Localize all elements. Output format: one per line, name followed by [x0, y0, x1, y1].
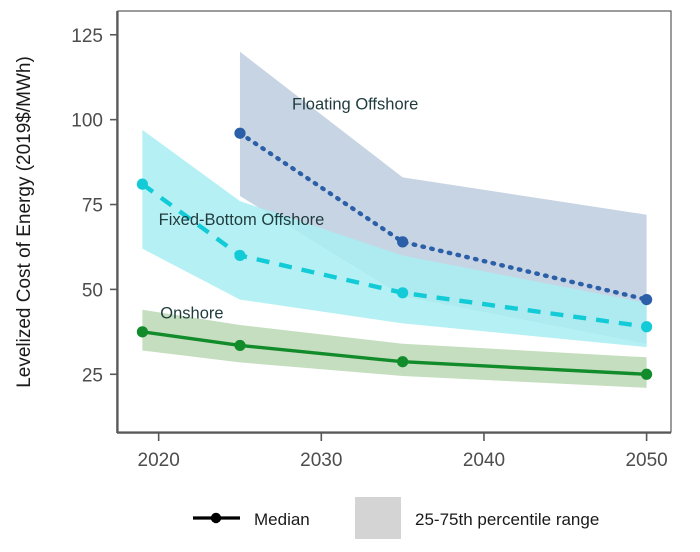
y-tick-label: 75: [82, 196, 103, 217]
y-axis: 255075100125: [71, 26, 117, 387]
median-point-marker: [234, 340, 245, 351]
legend-percentile-swatch: [355, 497, 401, 539]
series-label-fixed-bottom-offshore: Fixed-Bottom Offshore: [159, 211, 325, 229]
median-point-marker: [641, 369, 652, 380]
median-point-marker: [397, 287, 408, 298]
y-tick-label: 100: [71, 111, 103, 132]
y-tick-label: 125: [71, 26, 103, 47]
median-point-marker: [397, 356, 408, 367]
legend-median-label: Median: [254, 510, 310, 529]
legend-median-marker-icon: [211, 513, 221, 523]
median-point-marker: [641, 321, 652, 332]
chart-figure: 255075100125 2020203020402050 Levelized …: [0, 0, 700, 552]
series-label-onshore: Onshore: [160, 304, 223, 322]
legend-percentile-label: 25-75th percentile range: [415, 510, 599, 529]
y-tick-label: 25: [82, 365, 103, 386]
x-tick-label: 2030: [300, 450, 342, 471]
series-label-floating-offshore: Floating Offshore: [292, 95, 418, 113]
chart-legend: Median 25-75th percentile range: [193, 497, 599, 539]
median-point-marker: [234, 250, 245, 261]
median-point-marker: [234, 128, 245, 139]
x-tick-label: 2020: [138, 450, 180, 471]
x-axis: 2020203020402050: [138, 433, 668, 471]
median-point-marker: [137, 179, 148, 190]
median-point-marker: [397, 236, 408, 247]
levelized-cost-of-energy-chart: 255075100125 2020203020402050 Levelized …: [0, 0, 700, 552]
median-point-marker: [641, 294, 652, 305]
median-point-marker: [137, 326, 148, 337]
y-tick-label: 50: [82, 280, 103, 301]
x-tick-label: 2050: [625, 450, 667, 471]
y-axis-title: Levelized Cost of Energy (2019$/MWh): [14, 56, 35, 388]
x-tick-label: 2040: [463, 450, 505, 471]
